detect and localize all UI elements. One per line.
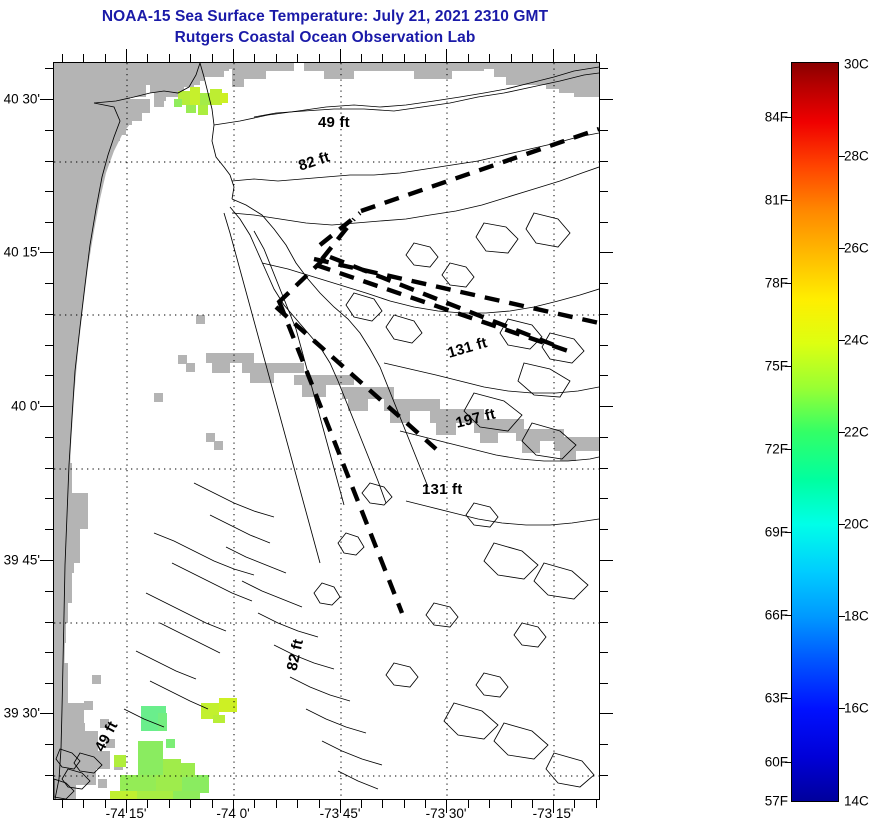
tick-lon-top-minor [147, 54, 148, 62]
tick-lon-top-major [233, 49, 234, 62]
colorbar-label-f: 78F [765, 276, 788, 291]
tick-lon-top-minor [382, 54, 383, 62]
tick-lon-top-major [340, 49, 341, 62]
tick-lat-minor [45, 498, 53, 499]
tick-lat-minor [45, 222, 53, 223]
tick-lon-top-minor [169, 54, 170, 62]
tick-lat-major [40, 406, 53, 407]
colorbar-label-f: 75F [765, 359, 788, 374]
tick-lon-top-minor [511, 54, 512, 62]
tick-lat-right-minor [600, 130, 608, 131]
tick-lon-top-minor [254, 54, 255, 62]
tick-lat-right-minor [600, 775, 608, 776]
tick-lat-minor [45, 591, 53, 592]
colorbar-label-f: 69F [765, 525, 788, 540]
tick-lon-top-minor [425, 54, 426, 62]
tick-lon-top-minor [596, 54, 597, 62]
tick-lon-top-major [553, 49, 554, 62]
tick-lat-minor [45, 283, 53, 284]
tick-lat-minor [45, 529, 53, 530]
tick-lat-major [40, 560, 53, 561]
lat-label: 39 30' [0, 706, 40, 721]
colorbar-label-f: 63F [765, 691, 788, 706]
lon-label: -73 45' [320, 806, 361, 821]
colorbar-label-f: 66F [765, 608, 788, 623]
colorbar-label-c: 30C [844, 57, 869, 72]
tick-lat-minor [45, 375, 53, 376]
tick-lat-right-minor [600, 68, 608, 69]
sst-map-page: NOAA-15 Sea Surface Temperature: July 21… [0, 0, 872, 832]
tick-lat-right-minor [600, 529, 608, 530]
tick-lat-minor [45, 191, 53, 192]
colorbar-label-c: 22C [844, 425, 869, 440]
colorbar-label-f: 84F [765, 110, 788, 125]
lon-label: -74 15' [106, 806, 147, 821]
lat-label: 40 30' [0, 92, 40, 107]
tick-lat-major [40, 713, 53, 714]
lat-label: 40 0' [0, 399, 40, 414]
tick-lon-top-minor [361, 54, 362, 62]
tick-lat-minor [45, 468, 53, 469]
page-title: NOAA-15 Sea Surface Temperature: July 21… [0, 6, 650, 48]
tick-lat-right-minor [600, 283, 608, 284]
colorbar-label-c: 16C [844, 701, 869, 716]
tick-lat-major [40, 252, 53, 253]
colorbar-label-f: 72F [765, 442, 788, 457]
tick-lat-right-major [600, 713, 613, 714]
tick-lon-top-minor [190, 54, 191, 62]
tick-lon-top-minor [319, 54, 320, 62]
tick-lat-minor [45, 683, 53, 684]
tick-lat-major [40, 99, 53, 100]
tick-lat-right-minor [600, 191, 608, 192]
tick-lon-top-minor [532, 54, 533, 62]
tick-lat-right-minor [600, 683, 608, 684]
lat-label: 39 45' [0, 553, 40, 568]
title-line-secondary: Rutgers Coastal Ocean Observation Lab [0, 27, 650, 48]
temperature-colorbar[interactable]: 84F 81F 78F 75F 72F 69F 66F 63F 60F 57F … [791, 62, 839, 802]
colorbar-label-f: 57F [765, 794, 788, 809]
title-line-primary: NOAA-15 Sea Surface Temperature: July 21… [0, 6, 650, 27]
colorbar-label-c: 26C [844, 241, 869, 256]
tick-lat-right-minor [600, 744, 608, 745]
tick-lon-top-minor [574, 54, 575, 62]
tick-lat-minor [45, 622, 53, 623]
tick-lat-minor [45, 68, 53, 69]
tick-lat-minor [45, 130, 53, 131]
tick-lat-minor [45, 161, 53, 162]
colorbar-label-c: 20C [844, 517, 869, 532]
tick-lon-top-minor [468, 54, 469, 62]
tick-lat-right-minor [600, 161, 608, 162]
tick-lat-minor [45, 345, 53, 346]
colorbar-label-f: 81F [765, 193, 788, 208]
colorbar-gradient [791, 62, 839, 802]
tick-lat-minor [45, 744, 53, 745]
tick-lat-right-minor [600, 375, 608, 376]
axis-tick-layer [53, 62, 600, 800]
tick-lon-top-minor [489, 54, 490, 62]
tick-lat-minor [45, 652, 53, 653]
tick-lon-top-major [446, 49, 447, 62]
lat-label: 40 15' [0, 245, 40, 260]
tick-lon-top-minor [62, 54, 63, 62]
tick-lat-right-minor [600, 314, 608, 315]
tick-lon-top-minor [105, 54, 106, 62]
tick-lat-right-minor [600, 652, 608, 653]
tick-lat-right-minor [600, 345, 608, 346]
tick-lat-right-minor [600, 468, 608, 469]
tick-lon-top-minor [297, 54, 298, 62]
colorbar-label-c: 28C [844, 149, 869, 164]
tick-lon-top-minor [404, 54, 405, 62]
tick-lat-right-minor [600, 222, 608, 223]
tick-lat-right-minor [600, 437, 608, 438]
tick-lat-right-major [600, 99, 613, 100]
longitude-label-layer: -74 15' -74 0' -73 45' -73 30' -73 15' [53, 806, 600, 830]
tick-lat-right-minor [600, 591, 608, 592]
lon-label: -73 15' [533, 806, 574, 821]
tick-lat-right-minor [600, 622, 608, 623]
tick-lat-right-major [600, 560, 613, 561]
tick-lon-top-major [126, 49, 127, 62]
lon-label: -74 0' [216, 806, 249, 821]
colorbar-label-f: 60F [765, 755, 788, 770]
tick-lat-right-minor [600, 498, 608, 499]
colorbar-label-c: 18C [844, 609, 869, 624]
tick-lat-minor [45, 437, 53, 438]
colorbar-label-c: 24C [844, 333, 869, 348]
tick-lat-right-major [600, 406, 613, 407]
lon-label: -73 30' [426, 806, 467, 821]
tick-lon-top-minor [276, 54, 277, 62]
tick-lon-top-minor [83, 54, 84, 62]
tick-lat-minor [45, 775, 53, 776]
tick-lon-top-minor [212, 54, 213, 62]
colorbar-label-c: 14C [844, 794, 869, 809]
tick-lat-minor [45, 314, 53, 315]
tick-lat-right-major [600, 252, 613, 253]
latitude-label-layer: 40 30' 40 15' 40 0' 39 45' 39 30' [0, 62, 40, 800]
